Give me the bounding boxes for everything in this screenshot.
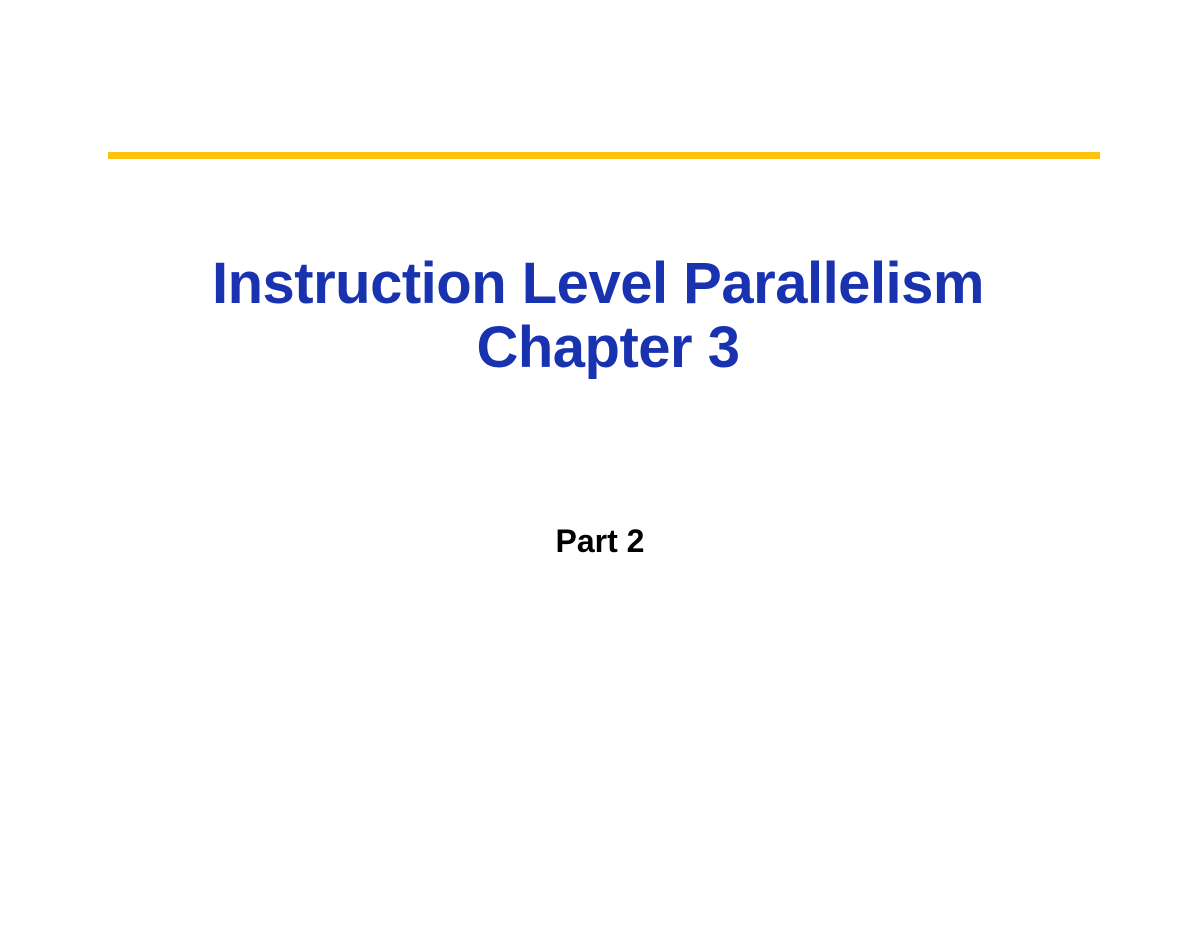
- slide-title-block: Instruction Level Parallelism Chapter 3: [0, 252, 1200, 380]
- slide-subtitle: Part 2: [556, 522, 645, 560]
- slide-title-line-2: Chapter 3: [0, 316, 1200, 380]
- gold-divider-rule: [108, 152, 1100, 159]
- slide-title-line-1: Instruction Level Parallelism: [0, 252, 1200, 316]
- slide-subtitle-block: Part 2: [0, 522, 1200, 560]
- presentation-slide: Instruction Level Parallelism Chapter 3 …: [0, 0, 1200, 927]
